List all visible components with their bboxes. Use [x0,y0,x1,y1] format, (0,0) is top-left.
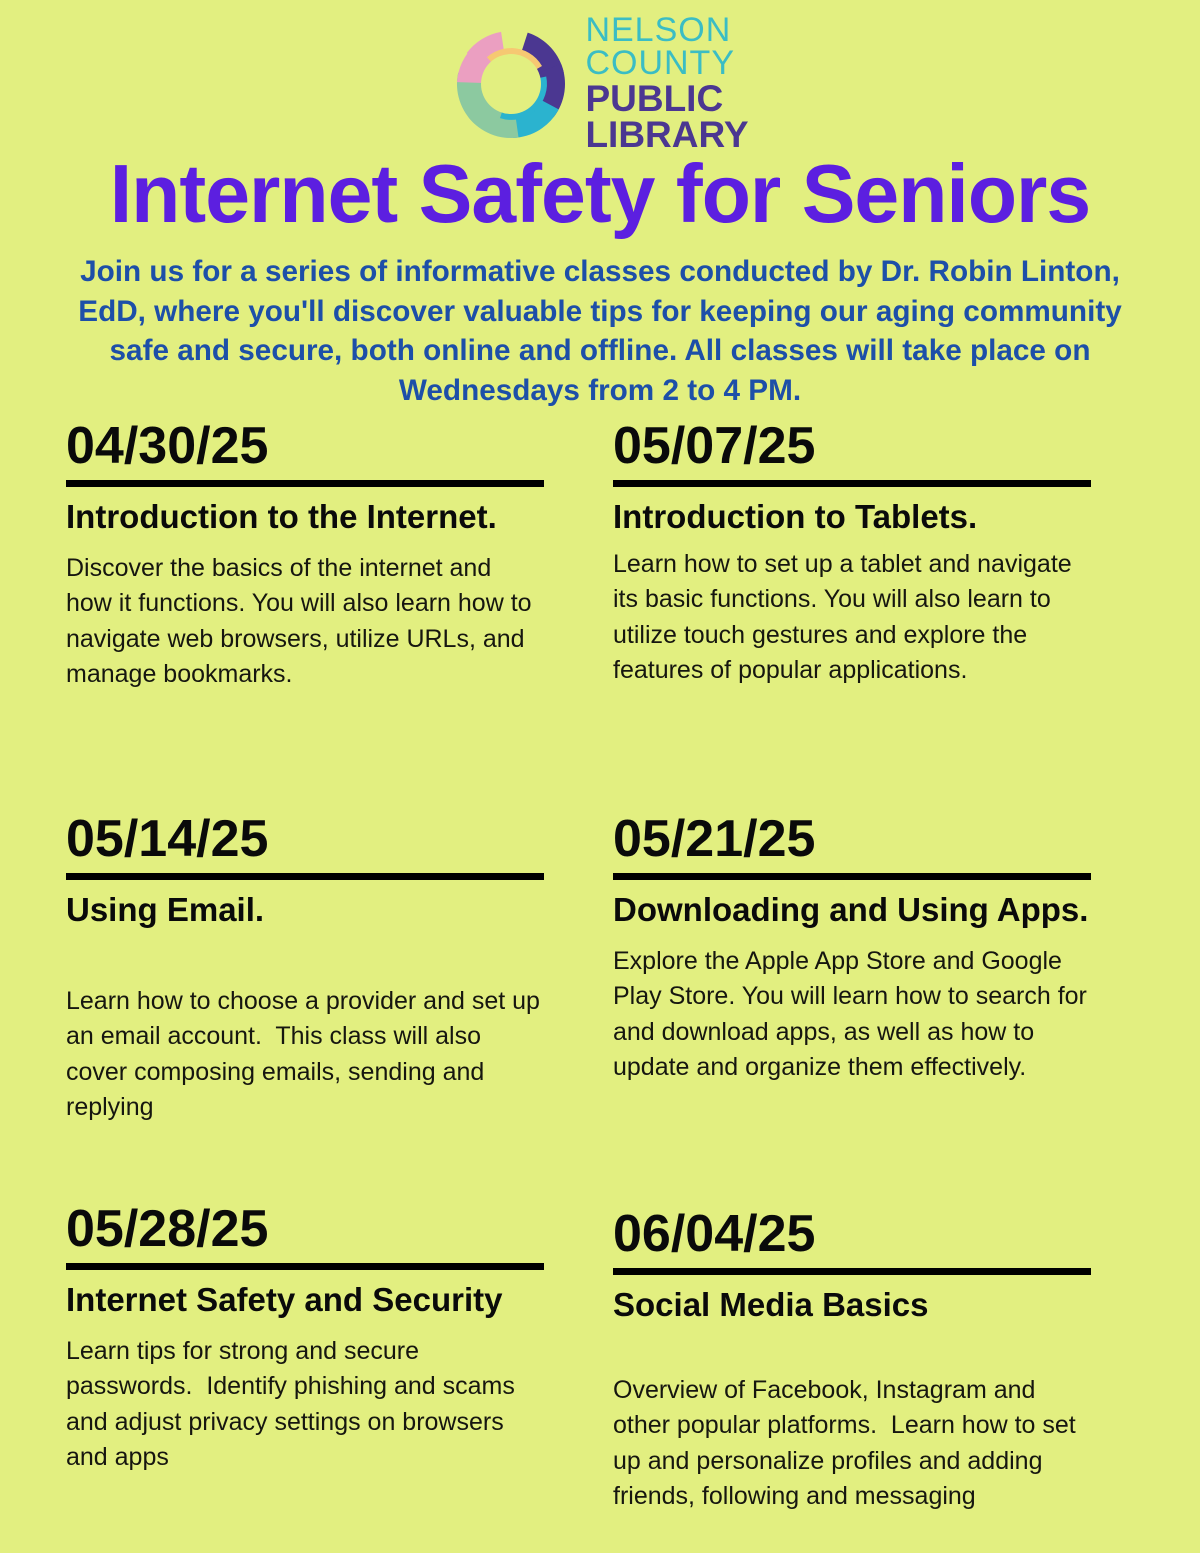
session-date: 06/04/25 [613,1206,1091,1262]
logo-line-nelson: NELSON [585,14,748,47]
session-card-6: 06/04/25 Social Media Basics Overview of… [613,1206,1091,1515]
session-description: Learn tips for strong and secure passwor… [66,1334,544,1476]
logo-wordmark: NELSON COUNTY PUBLIC LIBRARY [585,14,748,153]
flyer-page: NELSON COUNTY PUBLIC LIBRARY Internet Sa… [0,0,1200,1553]
session-card-3: 05/14/25 Using Email. Learn how to choos… [66,811,544,1126]
session-title: Using Email. [66,890,544,930]
session-description: Learn how to choose a provider and set u… [66,984,544,1126]
session-divider [613,873,1091,880]
session-date: 05/28/25 [66,1201,544,1257]
session-title: Internet Safety and Security [66,1280,544,1320]
session-title: Social Media Basics [613,1285,1091,1325]
session-divider [66,873,544,880]
session-date: 04/30/25 [66,418,544,474]
session-title: Introduction to Tablets. [613,497,1091,537]
session-divider [613,1268,1091,1275]
session-divider [66,1263,544,1270]
session-description: Explore the Apple App Store and Google P… [613,944,1091,1086]
page-subtitle: Join us for a series of informative clas… [77,252,1122,410]
session-description: Overview of Facebook, Instagram and othe… [613,1373,1091,1515]
session-card-1: 04/30/25 Introduction to the Internet. D… [66,418,544,693]
session-date: 05/21/25 [613,811,1091,867]
session-date: 05/07/25 [613,418,1091,474]
donut-logo-icon [451,24,571,144]
session-description: Learn how to set up a tablet and navigat… [613,547,1091,689]
session-card-4: 05/21/25 Downloading and Using Apps. Exp… [613,811,1091,1086]
session-title: Downloading and Using Apps. [613,890,1091,930]
session-title: Introduction to the Internet. [66,497,544,537]
page-title: Internet Safety for Seniors [18,152,1182,237]
session-date: 05/14/25 [66,811,544,867]
session-card-5: 05/28/25 Internet Safety and Security Le… [66,1201,544,1476]
session-divider [613,480,1091,487]
session-divider [66,480,544,487]
session-list: 04/30/25 Introduction to the Internet. D… [0,418,1200,1553]
library-logo: NELSON COUNTY PUBLIC LIBRARY [0,14,1200,153]
logo-line-county: COUNTY [585,47,748,80]
logo-line-public: PUBLIC [585,81,748,117]
session-card-2: 05/07/25 Introduction to Tablets. Learn … [613,418,1091,689]
session-description: Discover the basics of the internet and … [66,551,544,693]
